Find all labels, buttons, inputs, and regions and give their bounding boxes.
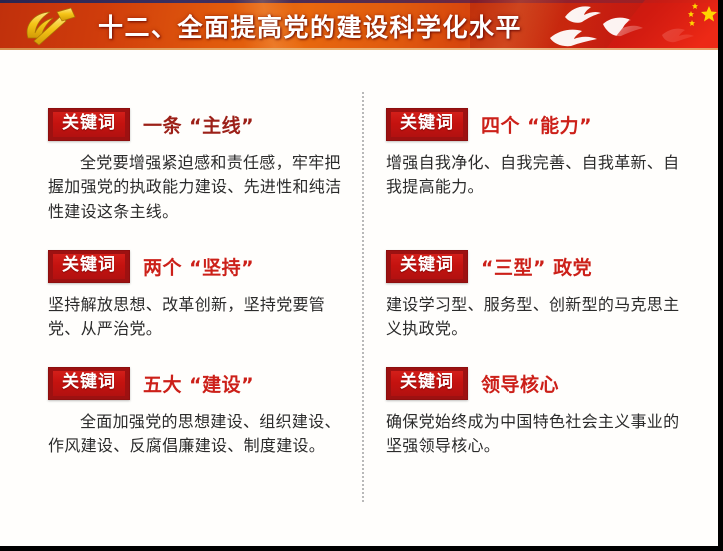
keyword-badge-label: 关键词 xyxy=(53,371,125,396)
keyword-header: 关键词 领导核心 xyxy=(386,367,686,400)
keyword-badge-label: 关键词 xyxy=(391,112,463,137)
keyword-title: 两个 “坚持” xyxy=(143,253,254,280)
keyword-section: 关键词 一条 “主线” 全党要增强紧迫感和责任感，牢牢把握加强党的执政能力建设、… xyxy=(48,108,348,225)
keyword-title: 一条 “主线” xyxy=(143,111,254,138)
keyword-badge-label: 关键词 xyxy=(391,254,463,279)
keyword-header: 关键词 一条 “主线” xyxy=(48,108,348,141)
keyword-header: 关键词 五大 “建设” xyxy=(48,367,348,400)
column-divider xyxy=(362,92,364,502)
keyword-badge: 关键词 xyxy=(48,367,130,400)
keyword-header: 关键词 两个 “坚持” xyxy=(48,250,348,283)
slide-root: 十二、全面提高党的建设科学化水平 xyxy=(0,0,723,551)
keyword-badge: 关键词 xyxy=(48,250,130,283)
keyword-title: “三型” 政党 xyxy=(481,253,592,280)
dove-icon xyxy=(563,3,603,25)
keyword-body: 全党要增强紧迫感和责任感，牢牢把握加强党的执政能力建设、先进性和纯洁性建设这条主… xyxy=(48,151,348,225)
keyword-body: 增强自我净化、自我完善、自我革新、自我提高能力。 xyxy=(386,151,686,201)
keyword-badge: 关键词 xyxy=(386,108,468,141)
keyword-badge: 关键词 xyxy=(48,108,130,141)
keyword-badge-label: 关键词 xyxy=(53,254,125,279)
banner-title: 十二、全面提高党的建设科学化水平 xyxy=(98,8,522,44)
keyword-section: 关键词 领导核心 确保党始终成为中国特色社会主义事业的坚强领导核心。 xyxy=(386,367,686,459)
keyword-title: 领导核心 xyxy=(481,370,559,397)
keyword-section: 关键词 两个 “坚持” 坚持解放思想、改革创新，坚持党要管党、从严治党。 xyxy=(48,250,348,342)
keyword-section: 关键词 “三型” 政党 建设学习型、服务型、创新型的马克思主义执政党。 xyxy=(386,250,686,342)
keyword-badge: 关键词 xyxy=(386,367,468,400)
keyword-body: 建设学习型、服务型、创新型的马克思主义执政党。 xyxy=(386,293,686,343)
header-banner: 十二、全面提高党的建设科学化水平 xyxy=(0,0,723,50)
keyword-section: 关键词 五大 “建设” 全面加强党的思想建设、组织建设、作风建设、反腐倡廉建设、… xyxy=(48,367,348,459)
keyword-badge-label: 关键词 xyxy=(53,112,125,137)
keyword-title: 五大 “建设” xyxy=(143,370,254,397)
keyword-header: 关键词 “三型” 政党 xyxy=(386,250,686,283)
keyword-header: 关键词 四个 “能力” xyxy=(386,108,686,141)
keyword-title: 四个 “能力” xyxy=(481,111,592,138)
communist-party-emblem-icon xyxy=(18,5,80,47)
banner-bottom-line xyxy=(0,48,723,50)
keyword-section: 关键词 四个 “能力” 增强自我净化、自我完善、自我革新、自我提高能力。 xyxy=(386,108,686,200)
keyword-badge-label: 关键词 xyxy=(391,371,463,396)
dove-icon xyxy=(548,26,600,48)
keyword-body: 确保党始终成为中国特色社会主义事业的坚强领导核心。 xyxy=(386,410,686,460)
keyword-body: 全面加强党的思想建设、组织建设、作风建设、反腐倡廉建设、制度建设。 xyxy=(48,410,348,460)
keyword-body: 坚持解放思想、改革创新，坚持党要管党、从严治党。 xyxy=(48,293,348,343)
china-flag-icon xyxy=(605,0,723,50)
keyword-badge: 关键词 xyxy=(386,250,468,283)
